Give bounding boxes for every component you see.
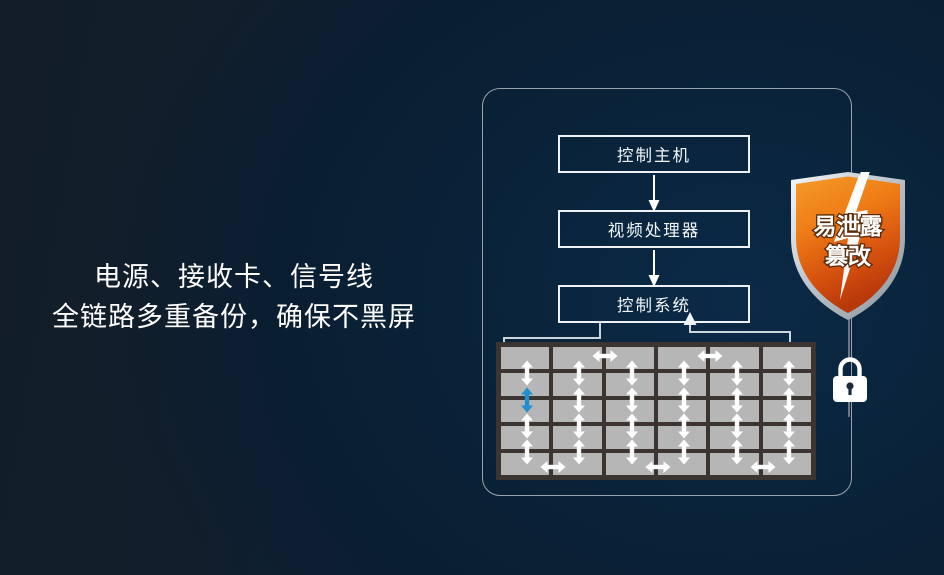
led-cell[interactable] — [763, 373, 811, 395]
led-cell[interactable] — [710, 347, 758, 369]
led-cell[interactable] — [658, 373, 706, 395]
led-cell[interactable] — [553, 453, 601, 475]
caption-line-2: 全链路多重备份，确保不黑屏 — [0, 298, 468, 338]
led-cell[interactable] — [501, 426, 549, 448]
led-cell[interactable] — [658, 400, 706, 422]
led-cell[interactable] — [763, 347, 811, 369]
led-display-panel[interactable] — [496, 342, 816, 480]
caption-line-1: 电源、接收卡、信号线 — [0, 258, 468, 298]
led-cell[interactable] — [710, 400, 758, 422]
shield-label-line-1: 易泄露 — [814, 214, 884, 240]
led-cell[interactable] — [501, 453, 549, 475]
led-cell[interactable] — [501, 373, 549, 395]
led-cell[interactable] — [501, 400, 549, 422]
led-cell[interactable] — [553, 347, 601, 369]
connector-host-to-video — [649, 175, 660, 212]
risk-shield-badge[interactable]: 易泄露 篡改 — [788, 172, 908, 320]
led-cell[interactable] — [501, 347, 549, 369]
caption-block: 电源、接收卡、信号线 全链路多重备份，确保不黑屏 — [0, 258, 468, 338]
led-cell[interactable] — [658, 347, 706, 369]
led-cell[interactable] — [658, 426, 706, 448]
led-cell[interactable] — [606, 453, 654, 475]
led-cell[interactable] — [710, 373, 758, 395]
led-cell[interactable] — [710, 453, 758, 475]
led-cell[interactable] — [606, 347, 654, 369]
led-cell[interactable] — [606, 373, 654, 395]
shield-label-line-2: 篡改 — [825, 243, 871, 270]
led-cell[interactable] — [763, 453, 811, 475]
led-cell[interactable] — [553, 373, 601, 395]
led-cell[interactable] — [606, 426, 654, 448]
led-cell[interactable] — [553, 400, 601, 422]
padlock-icon — [831, 355, 869, 403]
slide-canvas: 电源、接收卡、信号线 全链路多重备份，确保不黑屏 控制主机 视频处理器 控制系统 — [0, 0, 944, 575]
led-cell[interactable] — [763, 426, 811, 448]
connector-video-to-control — [649, 250, 660, 287]
led-cell[interactable] — [606, 400, 654, 422]
led-cell[interactable] — [553, 426, 601, 448]
led-cell[interactable] — [658, 453, 706, 475]
led-cell[interactable] — [763, 400, 811, 422]
led-cell[interactable] — [710, 426, 758, 448]
